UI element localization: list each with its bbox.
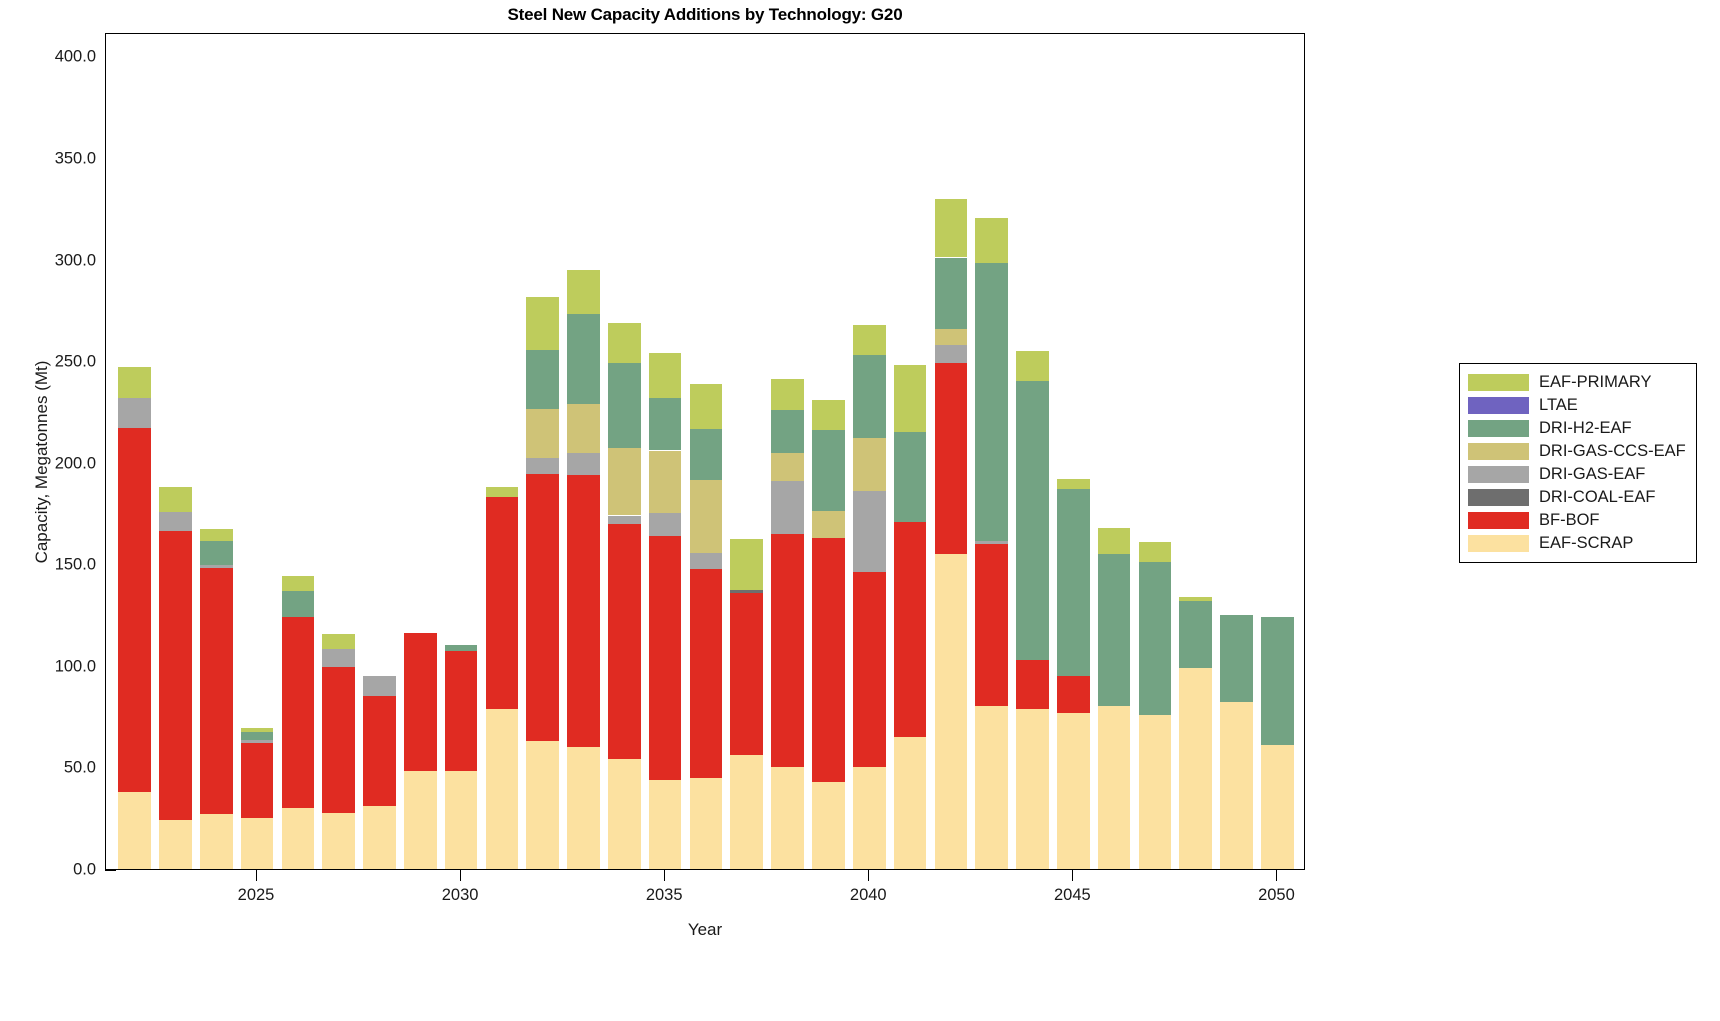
bar-segment-dri-h2-eaf[interactable] — [445, 645, 478, 651]
bar-segment-dri-h2-eaf[interactable] — [1179, 601, 1212, 668]
legend-item[interactable]: DRI-COAL-EAF — [1468, 486, 1686, 509]
bar-segment-eaf-scrap[interactable] — [1098, 706, 1131, 869]
bar-column[interactable] — [894, 32, 927, 869]
x-tick-label: 2045 — [1054, 886, 1091, 905]
x-tick-mark — [256, 870, 257, 881]
plot-area — [105, 33, 1305, 870]
bar-column[interactable] — [322, 32, 355, 869]
bar-segment-eaf-primary[interactable] — [486, 487, 519, 497]
bar-column[interactable] — [975, 32, 1008, 869]
bar-segment-dri-gas-eaf[interactable] — [363, 676, 396, 696]
x-axis-label: Year — [105, 920, 1305, 940]
bar-segment-dri-h2-eaf[interactable] — [812, 430, 845, 511]
bar-column[interactable] — [282, 32, 315, 869]
bar-column[interactable] — [118, 32, 151, 869]
bar-column[interactable] — [526, 32, 559, 869]
legend-swatch-icon — [1468, 397, 1529, 414]
bar-segment-eaf-scrap[interactable] — [282, 808, 315, 869]
legend-swatch-icon — [1468, 420, 1529, 437]
bar-segment-dri-h2-eaf[interactable] — [200, 541, 233, 565]
bar-segment-bf-bof[interactable] — [690, 569, 723, 777]
bar-column[interactable] — [690, 32, 723, 869]
bar-segment-dri-h2-eaf[interactable] — [690, 429, 723, 480]
bar-segment-dri-h2-eaf[interactable] — [608, 363, 641, 448]
legend-swatch-icon — [1468, 374, 1529, 391]
bar-column[interactable] — [445, 32, 478, 869]
bar-segment-eaf-primary[interactable] — [567, 270, 600, 315]
bar-segment-bf-bof[interactable] — [159, 531, 192, 820]
bar-column[interactable] — [486, 32, 519, 869]
bar-segment-eaf-primary[interactable] — [853, 325, 886, 355]
bar-segment-eaf-primary[interactable] — [975, 218, 1008, 263]
bar-segment-eaf-scrap[interactable] — [486, 709, 519, 869]
bar-segment-eaf-primary[interactable] — [282, 576, 315, 590]
bar-column[interactable] — [1179, 32, 1212, 869]
bar-segment-eaf-scrap[interactable] — [853, 767, 886, 869]
bar-segment-bf-bof[interactable] — [894, 522, 927, 737]
bar-column[interactable] — [363, 32, 396, 869]
bar-segment-dri-h2-eaf[interactable] — [1261, 617, 1294, 745]
y-tick-label: 300.0 — [55, 251, 96, 270]
bar-segment-dri-gas-ccs-eaf[interactable] — [853, 438, 886, 491]
legend-label: DRI-GAS-CCS-EAF — [1539, 443, 1686, 460]
bar-segment-bf-bof[interactable] — [486, 497, 519, 708]
legend-item[interactable]: DRI-H2-EAF — [1468, 417, 1686, 440]
bar-segment-eaf-scrap[interactable] — [1261, 745, 1294, 869]
bar-segment-eaf-scrap[interactable] — [649, 780, 682, 869]
bar-segment-bf-bof[interactable] — [322, 667, 355, 813]
x-tick-label: 2050 — [1258, 886, 1295, 905]
legend-label: DRI-H2-EAF — [1539, 420, 1632, 437]
x-tick-mark — [868, 870, 869, 881]
bar-segment-dri-coal-eaf[interactable] — [730, 590, 763, 593]
bar-segment-eaf-scrap[interactable] — [526, 741, 559, 869]
bar-segment-bf-bof[interactable] — [526, 474, 559, 741]
bar-segment-dri-gas-eaf[interactable] — [322, 649, 355, 667]
bar-segment-eaf-scrap[interactable] — [894, 737, 927, 869]
bar-segment-dri-h2-eaf[interactable] — [1139, 562, 1172, 714]
bars-layer — [106, 34, 1304, 869]
bar-segment-eaf-primary[interactable] — [200, 529, 233, 541]
bar-segment-eaf-primary[interactable] — [1179, 597, 1212, 601]
bar-column[interactable] — [1057, 32, 1090, 869]
bar-column[interactable] — [1261, 32, 1294, 869]
bar-segment-bf-bof[interactable] — [771, 534, 804, 768]
legend-label: LTAE — [1539, 397, 1578, 414]
bar-segment-bf-bof[interactable] — [363, 696, 396, 806]
x-tick-mark — [460, 870, 461, 881]
bar-column[interactable] — [404, 32, 437, 869]
bar-segment-eaf-scrap[interactable] — [1057, 713, 1090, 869]
bar-column[interactable] — [812, 32, 845, 869]
bar-segment-eaf-primary[interactable] — [771, 379, 804, 409]
x-tick-label: 2025 — [238, 886, 275, 905]
x-tick-label: 2030 — [442, 886, 479, 905]
legend-swatch-icon — [1468, 489, 1529, 506]
x-tick-mark — [1276, 870, 1277, 881]
bar-segment-eaf-primary[interactable] — [608, 323, 641, 364]
legend-label: BF-BOF — [1539, 512, 1600, 529]
bar-segment-eaf-scrap[interactable] — [975, 706, 1008, 869]
bar-segment-eaf-primary[interactable] — [159, 487, 192, 512]
x-tick-mark — [1072, 870, 1073, 881]
bar-segment-eaf-primary[interactable] — [1057, 479, 1090, 489]
bar-column[interactable] — [649, 32, 682, 869]
bar-segment-eaf-scrap[interactable] — [812, 782, 845, 869]
bar-segment-eaf-scrap[interactable] — [159, 820, 192, 869]
y-tick-label: 350.0 — [55, 149, 96, 168]
bar-segment-eaf-primary[interactable] — [690, 384, 723, 429]
y-axis-label: Capacity, Megatonnes (Mt) — [32, 82, 52, 842]
figure-root: Steel New Capacity Additions by Technolo… — [0, 0, 1720, 1021]
bar-segment-eaf-scrap[interactable] — [404, 771, 437, 869]
bar-segment-eaf-primary[interactable] — [322, 634, 355, 648]
bar-segment-bf-bof[interactable] — [282, 617, 315, 808]
bar-segment-bf-bof[interactable] — [730, 593, 763, 756]
bar-segment-dri-gas-eaf[interactable] — [241, 740, 274, 743]
bar-segment-dri-gas-eaf[interactable] — [118, 398, 151, 428]
bar-segment-dri-gas-ccs-eaf[interactable] — [649, 451, 682, 514]
bar-segment-eaf-primary[interactable] — [894, 365, 927, 432]
bar-segment-dri-h2-eaf[interactable] — [935, 258, 968, 329]
legend-item[interactable]: BF-BOF — [1468, 509, 1686, 532]
legend-label: DRI-COAL-EAF — [1539, 489, 1655, 506]
legend-item[interactable]: LTAE — [1468, 394, 1686, 417]
bar-segment-dri-h2-eaf[interactable] — [771, 410, 804, 453]
bar-segment-eaf-scrap[interactable] — [1016, 709, 1049, 869]
bar-segment-bf-bof[interactable] — [241, 743, 274, 818]
bar-column[interactable] — [771, 32, 804, 869]
bar-column[interactable] — [241, 32, 274, 869]
bar-segment-eaf-primary[interactable] — [1098, 528, 1131, 554]
bar-segment-dri-h2-eaf[interactable] — [526, 350, 559, 409]
bar-segment-dri-gas-eaf[interactable] — [690, 553, 723, 569]
legend-swatch-icon — [1468, 535, 1529, 552]
bar-segment-dri-gas-ccs-eaf[interactable] — [812, 511, 845, 537]
bar-segment-bf-bof[interactable] — [935, 363, 968, 554]
legend-item[interactable]: EAF-SCRAP — [1468, 532, 1686, 555]
bar-segment-dri-h2-eaf[interactable] — [241, 732, 274, 740]
bar-segment-bf-bof[interactable] — [608, 524, 641, 760]
bar-segment-eaf-primary[interactable] — [118, 367, 151, 397]
bar-segment-dri-gas-eaf[interactable] — [608, 516, 641, 524]
bar-segment-eaf-scrap[interactable] — [322, 813, 355, 869]
y-tick-label: 100.0 — [55, 657, 96, 676]
bar-segment-eaf-scrap[interactable] — [1139, 715, 1172, 869]
bar-segment-eaf-scrap[interactable] — [363, 806, 396, 869]
legend: EAF-PRIMARYLTAEDRI-H2-EAFDRI-GAS-CCS-EAF… — [1459, 363, 1697, 563]
bar-segment-dri-gas-eaf[interactable] — [975, 541, 1008, 544]
bar-segment-dri-gas-eaf[interactable] — [853, 491, 886, 572]
bar-segment-dri-h2-eaf[interactable] — [1016, 381, 1049, 659]
bar-segment-dri-gas-eaf[interactable] — [771, 481, 804, 534]
bar-segment-bf-bof[interactable] — [812, 538, 845, 782]
legend-label: EAF-PRIMARY — [1539, 374, 1651, 391]
bar-segment-eaf-scrap[interactable] — [608, 759, 641, 869]
bar-segment-dri-gas-ccs-eaf[interactable] — [771, 453, 804, 481]
y-tick-label: 150.0 — [55, 556, 96, 575]
legend-item[interactable]: EAF-PRIMARY — [1468, 371, 1686, 394]
bar-segment-eaf-primary[interactable] — [241, 728, 274, 732]
bar-segment-eaf-scrap[interactable] — [445, 771, 478, 869]
bar-segment-bf-bof[interactable] — [649, 536, 682, 780]
bar-segment-dri-h2-eaf[interactable] — [1057, 489, 1090, 676]
bar-segment-dri-gas-eaf[interactable] — [567, 453, 600, 475]
bar-segment-bf-bof[interactable] — [404, 633, 437, 771]
x-tick-mark — [664, 870, 665, 881]
legend-label: DRI-GAS-EAF — [1539, 466, 1645, 483]
x-tick-label: 2040 — [850, 886, 887, 905]
bar-segment-dri-gas-ccs-eaf[interactable] — [690, 480, 723, 553]
bar-segment-dri-gas-eaf[interactable] — [159, 512, 192, 530]
bar-segment-dri-h2-eaf[interactable] — [282, 591, 315, 617]
chart-title: Steel New Capacity Additions by Technolo… — [105, 5, 1305, 25]
bar-segment-eaf-scrap[interactable] — [935, 554, 968, 869]
legend-item[interactable]: DRI-GAS-EAF — [1468, 463, 1686, 486]
bar-column[interactable] — [730, 32, 763, 869]
bar-segment-eaf-scrap[interactable] — [771, 767, 804, 869]
bar-column[interactable] — [1220, 32, 1253, 869]
bar-segment-bf-bof[interactable] — [975, 544, 1008, 707]
bar-segment-eaf-primary[interactable] — [526, 297, 559, 350]
bar-column[interactable] — [159, 32, 192, 869]
bar-column[interactable] — [935, 32, 968, 869]
bar-column[interactable] — [200, 32, 233, 869]
legend-swatch-icon — [1468, 466, 1529, 483]
legend-swatch-icon — [1468, 512, 1529, 529]
bar-segment-dri-gas-eaf[interactable] — [649, 513, 682, 535]
bar-column[interactable] — [853, 32, 886, 869]
bar-segment-eaf-scrap[interactable] — [1179, 668, 1212, 869]
bar-segment-eaf-scrap[interactable] — [241, 818, 274, 869]
bar-segment-eaf-scrap[interactable] — [118, 792, 151, 869]
bar-segment-eaf-primary[interactable] — [1016, 351, 1049, 381]
bar-segment-eaf-primary[interactable] — [649, 353, 682, 398]
bar-segment-eaf-scrap[interactable] — [200, 814, 233, 869]
bar-segment-bf-bof[interactable] — [445, 651, 478, 772]
y-tick-label: 0.0 — [73, 861, 96, 880]
bar-segment-eaf-scrap[interactable] — [1220, 702, 1253, 869]
bar-segment-eaf-primary[interactable] — [935, 199, 968, 258]
bar-segment-bf-bof[interactable] — [118, 428, 151, 792]
bar-segment-eaf-scrap[interactable] — [730, 755, 763, 869]
bar-segment-eaf-primary[interactable] — [1139, 542, 1172, 562]
bar-segment-eaf-primary[interactable] — [730, 539, 763, 590]
y-tick-label: 250.0 — [55, 353, 96, 372]
bar-segment-bf-bof[interactable] — [1016, 660, 1049, 709]
legend-swatch-icon — [1468, 443, 1529, 460]
bar-segment-eaf-scrap[interactable] — [690, 778, 723, 869]
bar-segment-dri-gas-eaf[interactable] — [935, 345, 968, 363]
bar-segment-dri-h2-eaf[interactable] — [1220, 615, 1253, 702]
bar-segment-dri-gas-ccs-eaf[interactable] — [608, 448, 641, 515]
bar-column[interactable] — [1139, 32, 1172, 869]
bar-segment-dri-h2-eaf[interactable] — [1098, 554, 1131, 706]
x-tick-label: 2035 — [646, 886, 683, 905]
bar-segment-bf-bof[interactable] — [1057, 676, 1090, 713]
bar-segment-eaf-primary[interactable] — [812, 400, 845, 430]
bar-column[interactable] — [1098, 32, 1131, 869]
bar-segment-dri-h2-eaf[interactable] — [853, 355, 886, 438]
bar-segment-dri-h2-eaf[interactable] — [975, 263, 1008, 541]
bar-column[interactable] — [608, 32, 641, 869]
y-tick-label: 50.0 — [64, 759, 96, 778]
legend-label: EAF-SCRAP — [1539, 535, 1633, 552]
bar-segment-dri-h2-eaf[interactable] — [894, 432, 927, 521]
bar-segment-dri-h2-eaf[interactable] — [567, 314, 600, 403]
y-tick-label: 200.0 — [55, 454, 96, 473]
y-tick-mark — [105, 870, 116, 871]
bar-segment-bf-bof[interactable] — [853, 572, 886, 767]
bar-segment-dri-gas-ccs-eaf[interactable] — [567, 404, 600, 453]
bar-segment-dri-gas-eaf[interactable] — [526, 458, 559, 474]
bar-segment-bf-bof[interactable] — [200, 568, 233, 814]
bar-segment-dri-gas-ccs-eaf[interactable] — [526, 409, 559, 458]
bar-column[interactable] — [567, 32, 600, 869]
bar-segment-dri-gas-ccs-eaf[interactable] — [935, 329, 968, 345]
y-tick-label: 400.0 — [55, 48, 96, 67]
bar-column[interactable] — [1016, 32, 1049, 869]
bar-segment-eaf-scrap[interactable] — [567, 747, 600, 869]
bar-segment-dri-h2-eaf[interactable] — [649, 398, 682, 451]
bar-segment-dri-gas-eaf[interactable] — [200, 565, 233, 568]
bar-segment-bf-bof[interactable] — [567, 475, 600, 747]
legend-item[interactable]: DRI-GAS-CCS-EAF — [1468, 440, 1686, 463]
